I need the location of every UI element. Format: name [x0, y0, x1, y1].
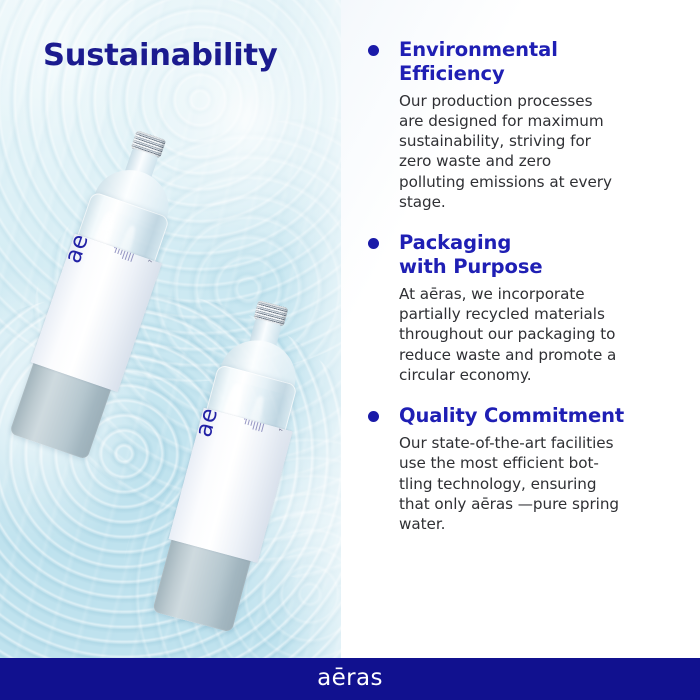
- page-title: Sustainability: [43, 41, 278, 72]
- bullet-point-icon: [368, 411, 379, 422]
- product-photo-panel: aēras sparkling water · eau pétillante 7…: [0, 0, 341, 658]
- sustainability-page: aēras sparkling water · eau pétillante 7…: [0, 0, 700, 700]
- bullet-point-icon: [368, 238, 379, 249]
- section-heading: Quality Commitment: [399, 404, 694, 428]
- section-environmental-efficiency: Environmental Efficiency Our production …: [367, 38, 694, 212]
- section-quality-commitment: Quality Commitment Our state-of-the-art …: [367, 404, 694, 534]
- footer-brand-logo: aēras: [317, 667, 383, 691]
- content-panel: Environmental Efficiency Our production …: [341, 0, 700, 658]
- section-heading: Packaging with Purpose: [399, 231, 694, 279]
- photo-vignette: [0, 0, 341, 658]
- section-body-text: Our production processes are designed fo…: [399, 91, 694, 213]
- section-heading: Environmental Efficiency: [399, 38, 694, 86]
- section-packaging-with-purpose: Packaging with Purpose At aēras, we inco…: [367, 231, 694, 385]
- section-body-text: Our state-of-the-art facilities use the …: [399, 433, 694, 534]
- bullet-point-icon: [368, 45, 379, 56]
- sustainability-sections-list: Environmental Efficiency Our production …: [367, 38, 694, 534]
- section-body-text: At aēras, we incorporate partially recyc…: [399, 284, 694, 385]
- footer-bar: aēras: [0, 658, 700, 700]
